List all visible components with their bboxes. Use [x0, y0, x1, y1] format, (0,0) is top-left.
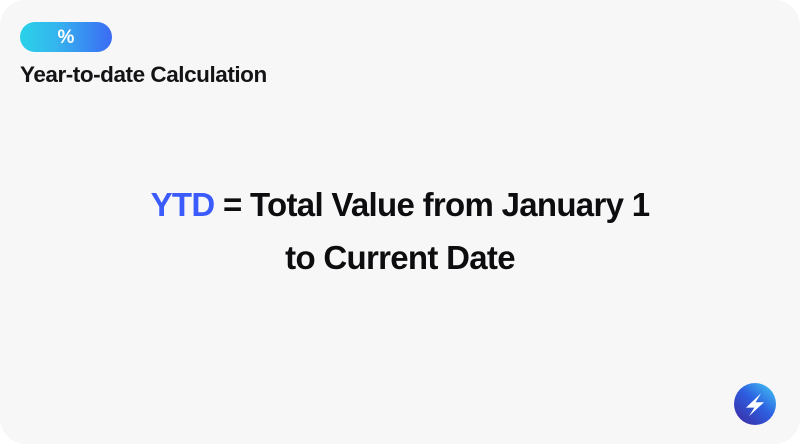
formula-equals-operator: = — [223, 186, 242, 223]
formula-line-2: to Current Date — [0, 231, 800, 284]
card-header: % Year-to-date Calculation — [20, 22, 267, 88]
formula-line-1: YTD = Total Value from January 1 — [0, 178, 800, 231]
page-title: Year-to-date Calculation — [20, 63, 267, 88]
info-card: % Year-to-date Calculation YTD = Total V… — [0, 0, 800, 444]
percent-badge: % — [20, 22, 112, 52]
formula-line-1-text: Total Value from January 1 — [250, 186, 649, 223]
percent-symbol-icon: % — [57, 28, 74, 47]
lightning-bolt-logo — [734, 383, 776, 425]
formula-term-ytd: YTD — [151, 186, 215, 223]
formula-block: YTD = Total Value from January 1 to Curr… — [0, 178, 800, 285]
